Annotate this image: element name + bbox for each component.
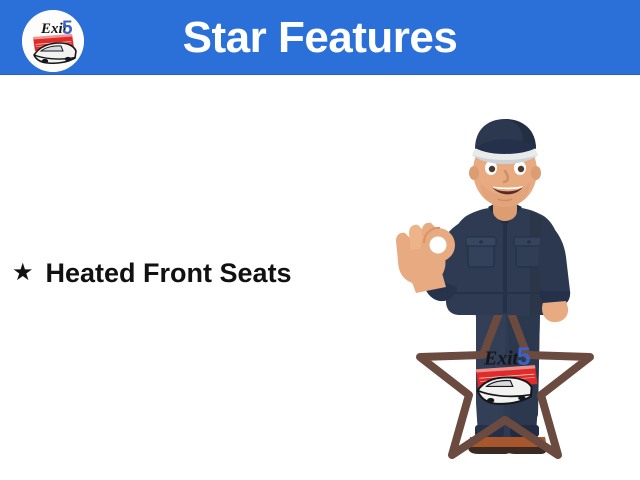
feature-list: ★ Heated Front Seats	[12, 259, 292, 299]
mechanic-with-star-badge-graphic: Exit 5	[380, 115, 630, 465]
cap-icon	[472, 119, 538, 164]
svg-text:5: 5	[517, 344, 531, 371]
star-bullet-icon: ★	[12, 261, 34, 285]
header-bar: Exit 5 Star Features	[0, 0, 640, 75]
feature-label: Heated Front Seats	[46, 259, 292, 289]
list-item: ★ Heated Front Seats	[12, 259, 292, 289]
mechanic-illustration: Exit 5	[380, 115, 630, 465]
exit-5-star-badge: Exit 5	[476, 344, 538, 404]
svg-text:Exit: Exit	[483, 347, 518, 369]
page-title: Star Features	[0, 0, 640, 75]
slide-body: ★ Heated Front Seats	[0, 75, 640, 480]
